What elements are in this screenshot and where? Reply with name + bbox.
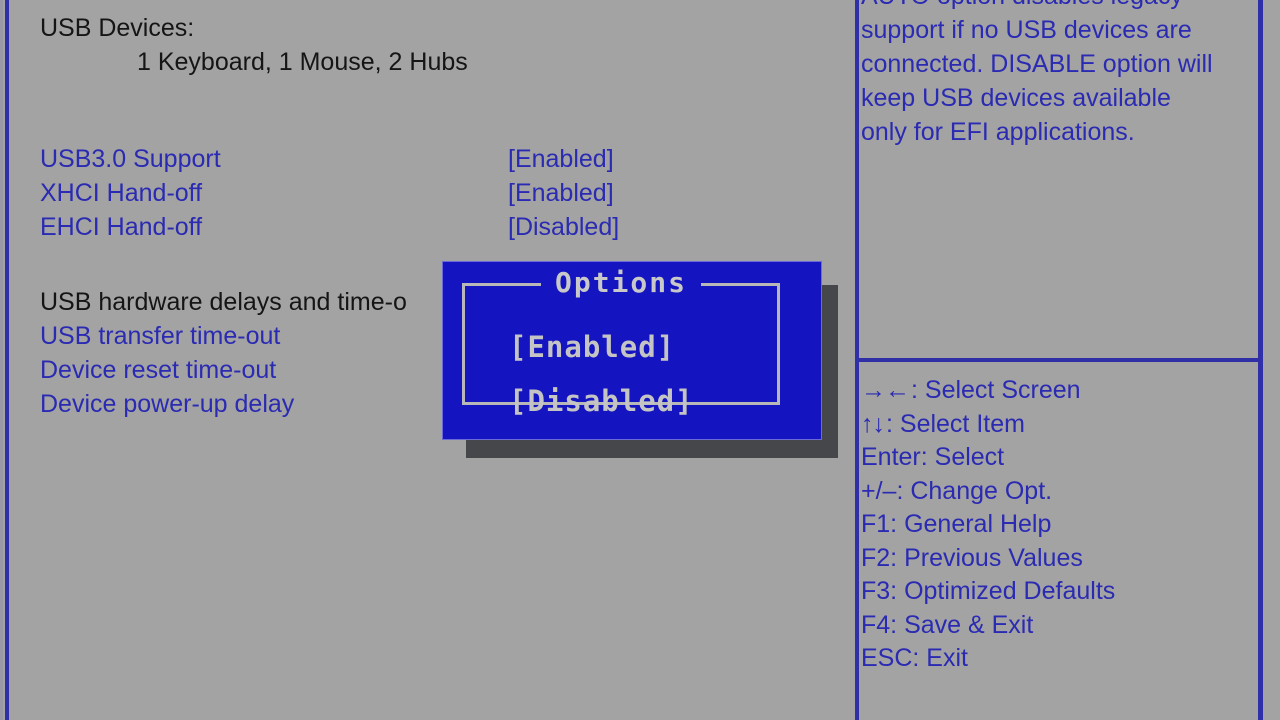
legend-item-previous-values: F2: Previous Values (861, 542, 1256, 576)
setting-label-xhci-hand-off[interactable]: XHCI Hand-off (40, 181, 202, 206)
options-dialog-item-enabled[interactable]: [Enabled] (509, 332, 675, 363)
setting-label-device-power-up-delay[interactable]: Device power-up delay (40, 392, 294, 417)
legend-item-save-and-exit: F4: Save & Exit (861, 609, 1256, 643)
legend-item-select-screen: →←: Select Screen (861, 374, 1256, 408)
legend-item-label: : Select Item (886, 410, 1025, 438)
setting-value-ehci-hand-off[interactable]: [Disabled] (508, 215, 619, 240)
legend-item-change-opt: +/–: Change Opt. (861, 475, 1256, 509)
legend-item-optimized-defaults: F3: Optimized Defaults (861, 575, 1256, 609)
arrow-up-down-icon: ↑↓ (861, 410, 884, 438)
legend-item-enter-select: Enter: Select (861, 441, 1256, 475)
legend-item-esc-exit: ESC: Exit (861, 642, 1256, 676)
panel-divider-horizontal (855, 358, 1260, 362)
legend-item-select-item: ↑↓: Select Item (861, 408, 1256, 442)
legend-item-label: : Select Screen (911, 376, 1081, 404)
help-line: AUTO option disables legacy (861, 0, 1256, 13)
setting-value-usb3-support[interactable]: [Enabled] (508, 147, 614, 172)
hotkey-legend-panel: →←: Select Screen ↑↓: Select Item Enter:… (861, 374, 1256, 676)
usb-devices-value: 1 Keyboard, 1 Mouse, 2 Hubs (137, 50, 468, 75)
help-line: only for EFI applications. (861, 115, 1256, 149)
help-line: support if no USB devices are (861, 13, 1256, 47)
usb-devices-label: USB Devices: (40, 16, 194, 41)
help-line: keep USB devices available (861, 81, 1256, 115)
options-dialog-title: Options (465, 268, 777, 298)
help-line: connected. DISABLE option will (861, 47, 1256, 81)
section-heading-usb-hardware-delays: USB hardware delays and time-o (40, 290, 407, 315)
setting-label-device-reset-time-out[interactable]: Device reset time-out (40, 358, 276, 383)
setting-label-usb-transfer-time-out[interactable]: USB transfer time-out (40, 324, 280, 349)
screen-edge-bezel (0, 0, 3, 720)
help-text-panel: AUTO option disables legacy support if n… (861, 0, 1256, 149)
legend-item-general-help: F1: General Help (861, 508, 1256, 542)
bios-setup-screen: USB Devices: 1 Keyboard, 1 Mouse, 2 Hubs… (0, 0, 1280, 720)
setting-value-xhci-hand-off[interactable]: [Enabled] (508, 181, 614, 206)
options-dialog-title-text: Options (541, 266, 701, 299)
options-dialog-item-disabled[interactable]: [Disabled] (509, 386, 694, 417)
setting-label-ehci-hand-off[interactable]: EHCI Hand-off (40, 215, 202, 240)
setting-label-usb3-support[interactable]: USB3.0 Support (40, 147, 221, 172)
options-dialog[interactable]: Options [Enabled] [Disabled] (442, 261, 822, 440)
arrow-left-right-icon: →← (861, 376, 909, 404)
options-dialog-frame: Options [Enabled] [Disabled] (462, 283, 780, 405)
